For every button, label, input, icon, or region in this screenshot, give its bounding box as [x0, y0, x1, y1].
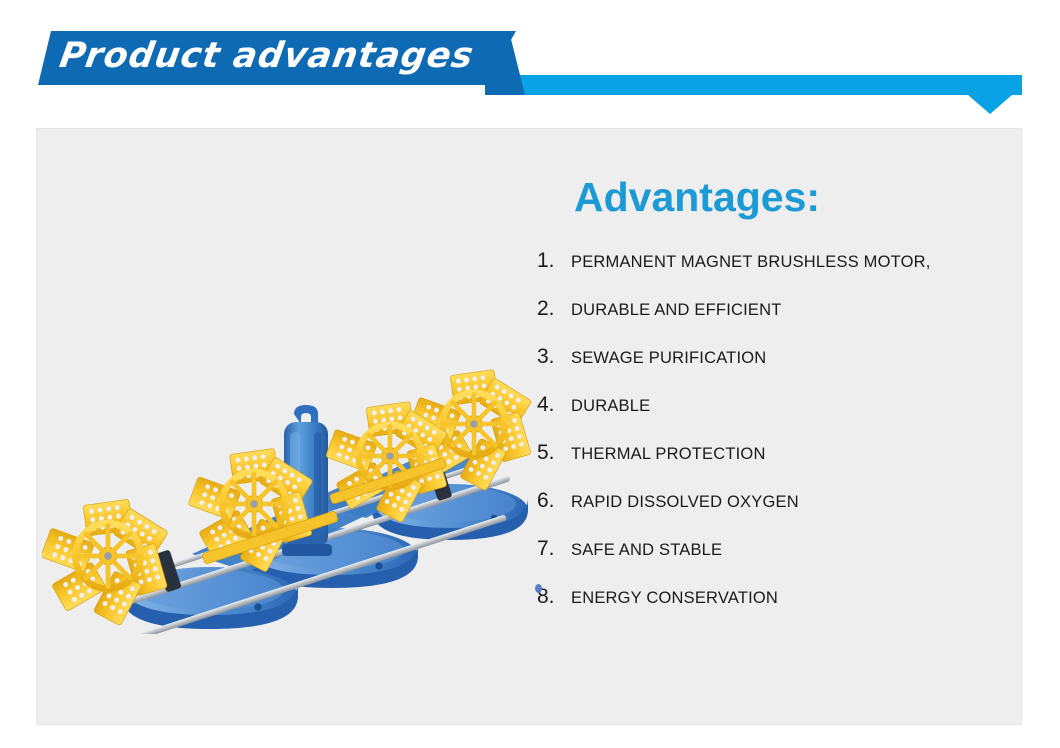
list-item-number: 1.: [537, 249, 571, 273]
list-item: 2. DURABLE AND EFFICIENT: [537, 297, 1017, 345]
list-item-number: 6.: [537, 489, 571, 513]
list-item: 7. SAFE AND STABLE: [537, 537, 1017, 585]
product-advantages-page: Product advantages: [0, 0, 1060, 748]
list-item-label: RAPID DISSOLVED OXYGEN: [571, 493, 799, 512]
list-item-label: SEWAGE PURIFICATION: [571, 349, 766, 368]
list-item: 1. PERMANENT MAGNET BRUSHLESS MOTOR,: [537, 249, 1017, 297]
banner-light-bar: [500, 75, 1022, 95]
decorative-dot: [535, 584, 542, 593]
list-item-label: SAFE AND STABLE: [571, 541, 722, 560]
list-item-label: DURABLE: [571, 397, 650, 416]
list-item-number: 3.: [537, 345, 571, 369]
list-item-number: 4.: [537, 393, 571, 417]
list-item: 5. THERMAL PROTECTION: [537, 441, 1017, 489]
list-item-number: 7.: [537, 537, 571, 561]
triangle-down-icon: [968, 95, 1012, 114]
list-item-label: DURABLE AND EFFICIENT: [571, 301, 781, 320]
page-title: Product advantages: [57, 36, 477, 76]
list-item: 8. ENERGY CONSERVATION: [537, 585, 1017, 633]
list-item: 6. RAPID DISSOLVED OXYGEN: [537, 489, 1017, 537]
advantages-heading: Advantages:: [574, 174, 1017, 221]
list-item-number: 2.: [537, 297, 571, 321]
list-item: 4. DURABLE: [537, 393, 1017, 441]
header-banner: Product advantages: [0, 0, 1060, 120]
advantages-list: 1. PERMANENT MAGNET BRUSHLESS MOTOR, 2. …: [537, 249, 1017, 633]
list-item-number: 8.: [537, 585, 571, 609]
advantages-section: Advantages: 1. PERMANENT MAGNET BRUSHLES…: [537, 174, 1017, 633]
list-item-number: 5.: [537, 441, 571, 465]
list-item-label: PERMANENT MAGNET BRUSHLESS MOTOR,: [571, 253, 931, 272]
list-item: 3. SEWAGE PURIFICATION: [537, 345, 1017, 393]
content-panel: ≡ Advantages: 1. PERMANENT MAG: [36, 128, 1022, 725]
product-image: ≡: [42, 304, 542, 634]
list-item-label: ENERGY CONSERVATION: [571, 589, 778, 608]
list-item-label: THERMAL PROTECTION: [571, 445, 766, 464]
